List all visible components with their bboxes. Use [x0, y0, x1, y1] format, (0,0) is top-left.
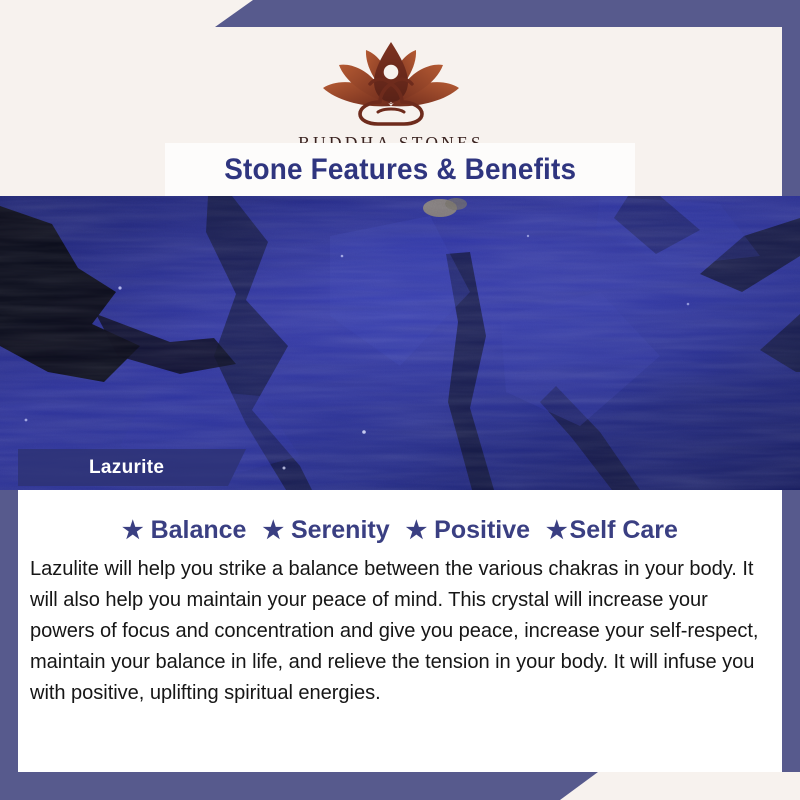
- stone-description: Lazulite will help you strike a balance …: [30, 554, 759, 709]
- brand-logo: BUDDHA STONES: [0, 32, 782, 154]
- page-title: Stone Features & Benefits: [224, 153, 576, 187]
- feature-item-positive: ★ Positive: [406, 516, 530, 545]
- content-panel: ★ Balance ★ Serenity ★ Positive ★ Self C…: [18, 490, 782, 772]
- infographic-page: BUDDHA STONES Stone Features & Benefits: [0, 0, 800, 800]
- frame-band-left: [0, 490, 18, 772]
- feature-item-serenity: ★ Serenity: [262, 516, 389, 545]
- feature-item-balance: ★ Balance: [122, 516, 246, 545]
- star-icon: ★: [546, 519, 568, 543]
- star-icon: ★: [262, 519, 284, 543]
- feature-label: Balance: [151, 516, 247, 545]
- lotus-meditation-icon: [298, 32, 484, 130]
- frame-band-bottom: [0, 772, 598, 800]
- stone-photo: [0, 196, 800, 490]
- frame-band-top: [215, 0, 800, 27]
- feature-item-self-care: ★ Self Care: [546, 516, 678, 545]
- feature-label: Self Care: [570, 516, 678, 545]
- feature-label: Serenity: [291, 516, 390, 545]
- stone-name-label: Lazurite: [89, 457, 164, 479]
- feature-label: Positive: [434, 516, 530, 545]
- star-icon: ★: [122, 519, 144, 543]
- title-plate: Stone Features & Benefits: [165, 143, 635, 196]
- feature-list: ★ Balance ★ Serenity ★ Positive ★ Self C…: [18, 516, 782, 545]
- star-icon: ★: [406, 519, 428, 543]
- stone-name-tag: Lazurite: [18, 449, 246, 486]
